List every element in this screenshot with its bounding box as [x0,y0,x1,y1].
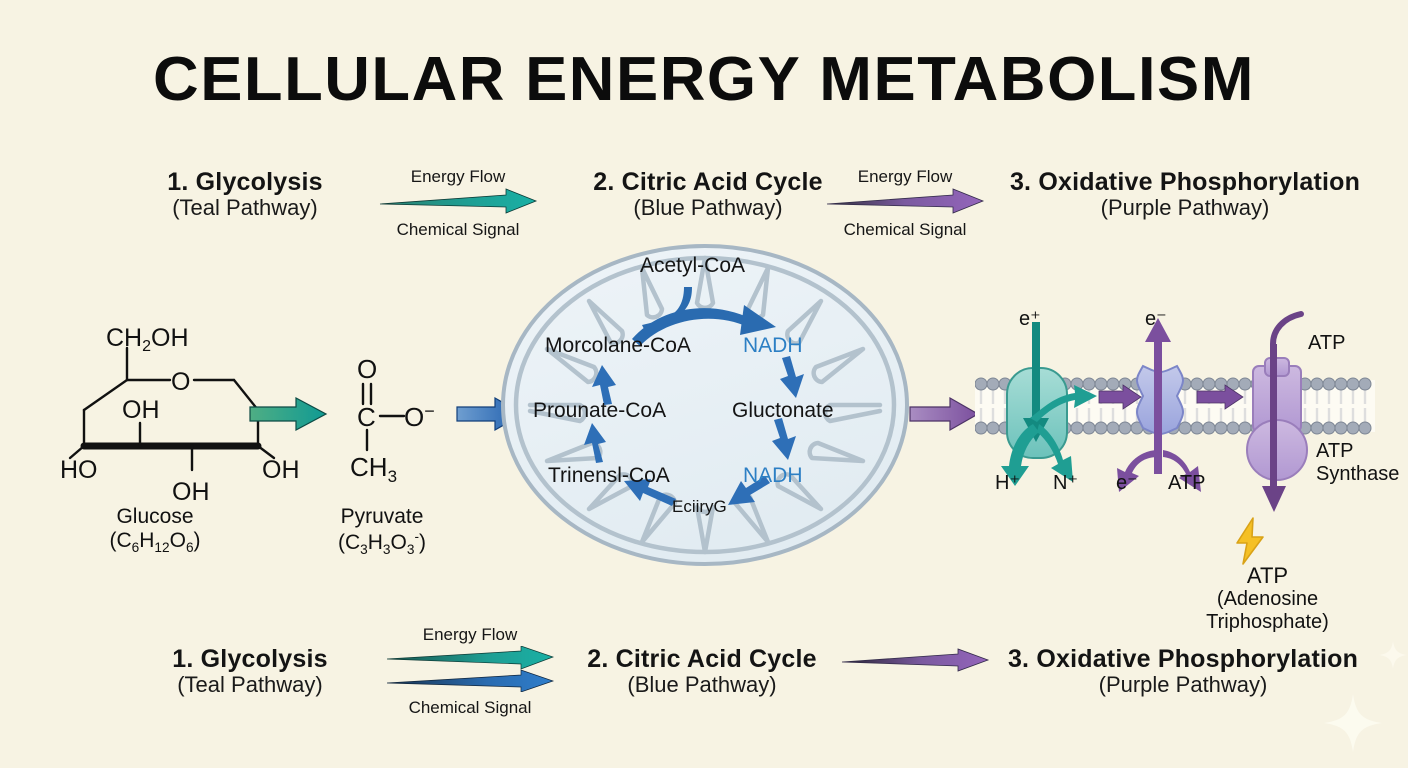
footer-stage-3-title: 3. Oxidative Phosphorylation [988,645,1378,673]
header-stage-1-subtitle: (Teal Pathway) [80,196,410,221]
arrow-glucose-to-pyruvate [248,396,328,437]
pyruvate-ch3-label: CH3 [350,452,397,486]
header-stage-2-subtitle: (Blue Pathway) [548,196,868,221]
footer-flow-arrows: Energy Flow Chemical Signal [385,625,555,717]
pyruvate-o-minus-label: O− [404,401,435,432]
etc-complex-2-top-label: e⁻ [1145,309,1167,331]
lightning-bolt-icon [1228,517,1272,565]
energy-flow-arrow-teal-icon [378,188,538,214]
etc-complex-1-top-label: e⁺ [1019,309,1041,331]
header-stage-3-title: 3. Oxidative Phosphorylation [985,168,1385,196]
cycle-node-prounate-coa: Prounate-CoA [533,400,666,421]
arrow-mitochondrion-to-etc [908,396,980,437]
footer-stage-glycolysis: 1. Glycolysis (Teal Pathway) [90,645,410,698]
cycle-node-nadh-1: NADH [743,335,803,356]
header-flow-1-bottom-label: Chemical Signal [378,220,538,240]
footer-stage-3-subtitle: (Purple Pathway) [988,673,1378,698]
cycle-node-nadh-2: NADH [743,465,803,486]
glucose-oh-top-label: OH [122,396,160,424]
pyruvate-caption: Pyruvate (C3H3O3-) [292,505,472,558]
pyruvate-o-top-label: O [357,354,377,384]
footer-stage-2-title: 2. Citric Acid Cycle [552,645,852,673]
footer-purple-arrow [840,648,990,677]
etc-atp-synthase [1247,314,1307,512]
footer-stage-1-title: 1. Glycolysis [90,645,410,673]
footer-dual-arrow-icon [385,646,555,692]
header-flow-2-top-label: Energy Flow [825,167,985,187]
footer-stage-citric-acid-cycle: 2. Citric Acid Cycle (Blue Pathway) [552,645,852,698]
footer-stage-oxidative-phosphorylation: 3. Oxidative Phosphorylation (Purple Pat… [988,645,1378,698]
cycle-node-trinensl-coa: Trinensl-CoA [548,465,670,486]
glucose-ch2oh-label: CH2OH [106,324,189,355]
energy-flow-arrow-purple-icon [825,188,985,214]
header-stage-glycolysis: 1. Glycolysis (Teal Pathway) [80,168,410,221]
etc-label-e-minus: e⁻ [1116,473,1138,495]
atp-output-sub-line1: (Adenosine [1175,588,1360,611]
etc-label-atp: ATP [1168,473,1205,495]
glucose-oh-bottom-label: OH [172,478,210,506]
cycle-node-gluctonate: Gluctonate [732,400,834,421]
footer-stage-2-subtitle: (Blue Pathway) [552,673,852,698]
atp-output-sub-line2: Triphosphate) [1175,611,1360,634]
glucose-caption: Glucose (C6H12O6) [60,505,250,556]
cycle-node-eciiryg: EciiryG [672,498,727,515]
etc-atp-synthase-name-line1: ATP [1316,441,1353,463]
diagram-canvas: CELLULAR ENERGY METABOLISM 1. Glycolysis… [0,0,1408,768]
header-stage-2-title: 2. Citric Acid Cycle [548,168,868,196]
etc-label-n-plus: N⁺ [1053,473,1078,495]
glucose-name: Glucose [60,505,250,529]
mitochondrion: Acetyl-CoA NADH Gluctonate NADH EciiryG … [500,243,910,568]
header-stage-citric-acid-cycle: 2. Citric Acid Cycle (Blue Pathway) [548,168,868,221]
pyruvate-name: Pyruvate [292,505,472,529]
header-stage-oxidative-phosphorylation: 3. Oxidative Phosphorylation (Purple Pat… [985,168,1385,221]
header-flow-2-bottom-label: Chemical Signal [825,220,985,240]
header-flow-arrow-2: Energy Flow Chemical Signal [825,167,985,239]
header-stage-1-title: 1. Glycolysis [80,168,410,196]
header-flow-arrow-1: Energy Flow Chemical Signal [378,167,538,239]
etc-atp-synthase-name-line2: Synthase [1316,464,1399,486]
pyruvate-formula: (C3H3O3-) [292,529,472,558]
footer-flow-top-label: Energy Flow [385,625,555,645]
atp-output-label: ATP (Adenosine Triphosphate) [1175,563,1360,634]
etc-label-h-plus: H⁺ [995,473,1020,495]
pyruvate-structure: O C O− CH3 [332,352,462,492]
header-flow-1-top-label: Energy Flow [378,167,538,187]
atp-output-title: ATP [1175,563,1360,588]
glucose-ring-o-label: O [171,368,190,396]
etc-atp-synthase-top-label: ATP [1308,333,1345,355]
pyruvate-c-label: C [357,402,376,432]
cycle-input-acetyl-coa: Acetyl-CoA [640,255,745,276]
footer-flow-bottom-label: Chemical Signal [385,698,555,718]
glucose-ho-label: HO [62,456,98,484]
header-stage-3-subtitle: (Purple Pathway) [985,196,1385,221]
glucose-formula: (C6H12O6) [60,529,250,556]
sparkle-decoration-small [1378,640,1408,670]
sparkle-decoration [1322,692,1384,754]
glucose-oh-right-label: OH [262,456,300,484]
electron-transport-chain: e⁺ e⁻ ATP H⁺ N⁺ e⁻ ATP ATP Synthase [975,300,1375,530]
footer-stage-1-subtitle: (Teal Pathway) [90,673,410,698]
cycle-node-morcolane-coa: Morcolane-CoA [545,335,691,356]
page-title: CELLULAR ENERGY METABOLISM [0,44,1408,115]
